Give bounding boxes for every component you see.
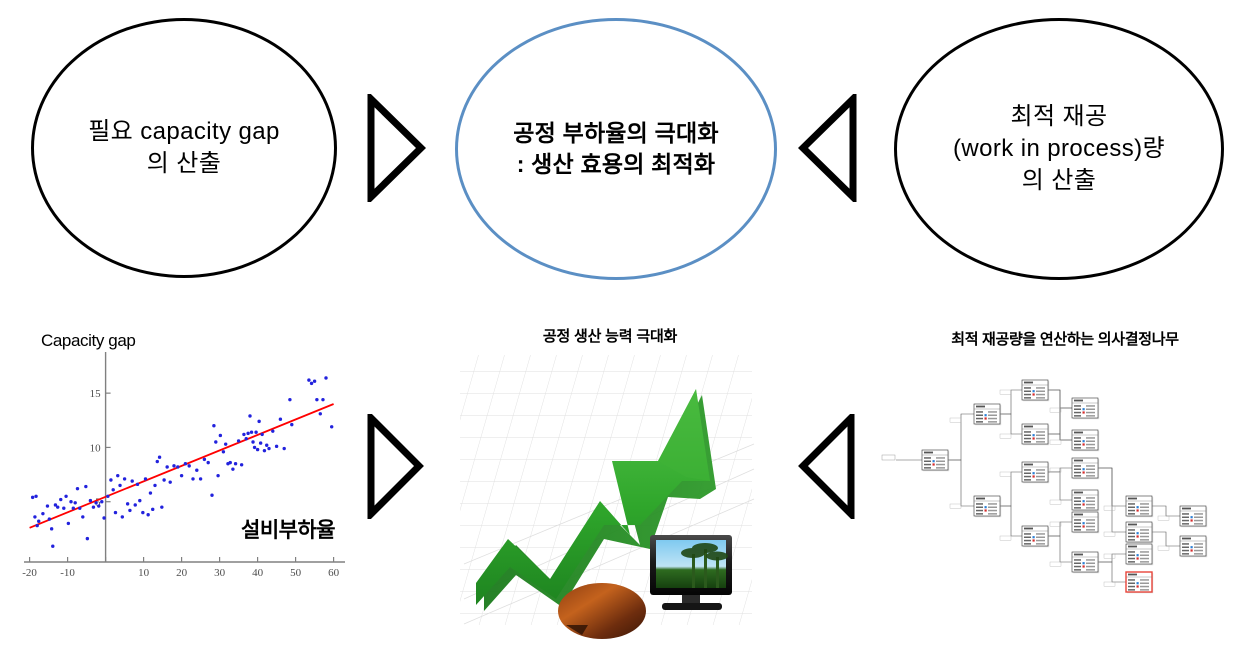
node-capacity-gap[interactable]: 필요 capacity gap 의 산출 xyxy=(31,18,337,278)
silicon-wafer-icon xyxy=(558,583,646,639)
decision-tree-graphic xyxy=(880,354,1250,619)
node-capacity-gap-label: 필요 capacity gap 의 산출 xyxy=(74,116,294,180)
svg-text:30: 30 xyxy=(214,567,226,579)
triangle-left-icon xyxy=(798,94,858,202)
node-process-load-maximization[interactable]: 공정 부하율의 극대화 : 생산 효용의 최적화 xyxy=(455,18,777,280)
triangle-right-icon xyxy=(366,94,426,202)
growth-arrow-graphic xyxy=(454,349,764,649)
svg-text:40: 40 xyxy=(252,567,264,579)
svg-text:-10: -10 xyxy=(60,567,75,579)
svg-text:50: 50 xyxy=(290,567,302,579)
svg-text:-20: -20 xyxy=(22,567,37,579)
decision-tree-panel: 최적 재공량을 연산하는 의사결정나무 xyxy=(880,328,1250,628)
svg-text:10: 10 xyxy=(90,442,102,454)
production-capacity-panel: 공정 생산 능력 극대화 xyxy=(440,325,780,655)
triangle-left-icon xyxy=(798,414,856,519)
svg-text:60: 60 xyxy=(328,567,340,579)
scatter-chart: -20-1010203040506051015 xyxy=(8,328,353,596)
node-optimal-wip-label: 최적 재공 (work in process)량 의 산출 xyxy=(939,101,1179,197)
slide-canvas: 필요 capacity gap 의 산출 공정 부하율의 극대화 : 생산 효용… xyxy=(0,0,1257,659)
svg-text:20: 20 xyxy=(176,567,188,579)
svg-text:15: 15 xyxy=(90,388,102,400)
decision-tree-title: 최적 재공량을 연산하는 의사결정나무 xyxy=(880,328,1250,349)
production-capacity-title: 공정 생산 능력 극대화 xyxy=(440,325,780,346)
node-optimal-wip[interactable]: 최적 재공 (work in process)량 의 산출 xyxy=(894,18,1224,280)
capacity-gap-scatter-panel: Capacity gap -20-1010203040506051015 설비부… xyxy=(8,328,353,596)
scatter-xaxis-label: 설비부하율 xyxy=(241,514,335,544)
triangle-right-icon xyxy=(366,414,424,519)
node-process-load-maximization-label: 공정 부하율의 극대화 : 생산 효용의 최적화 xyxy=(499,118,732,180)
svg-text:10: 10 xyxy=(138,567,150,579)
